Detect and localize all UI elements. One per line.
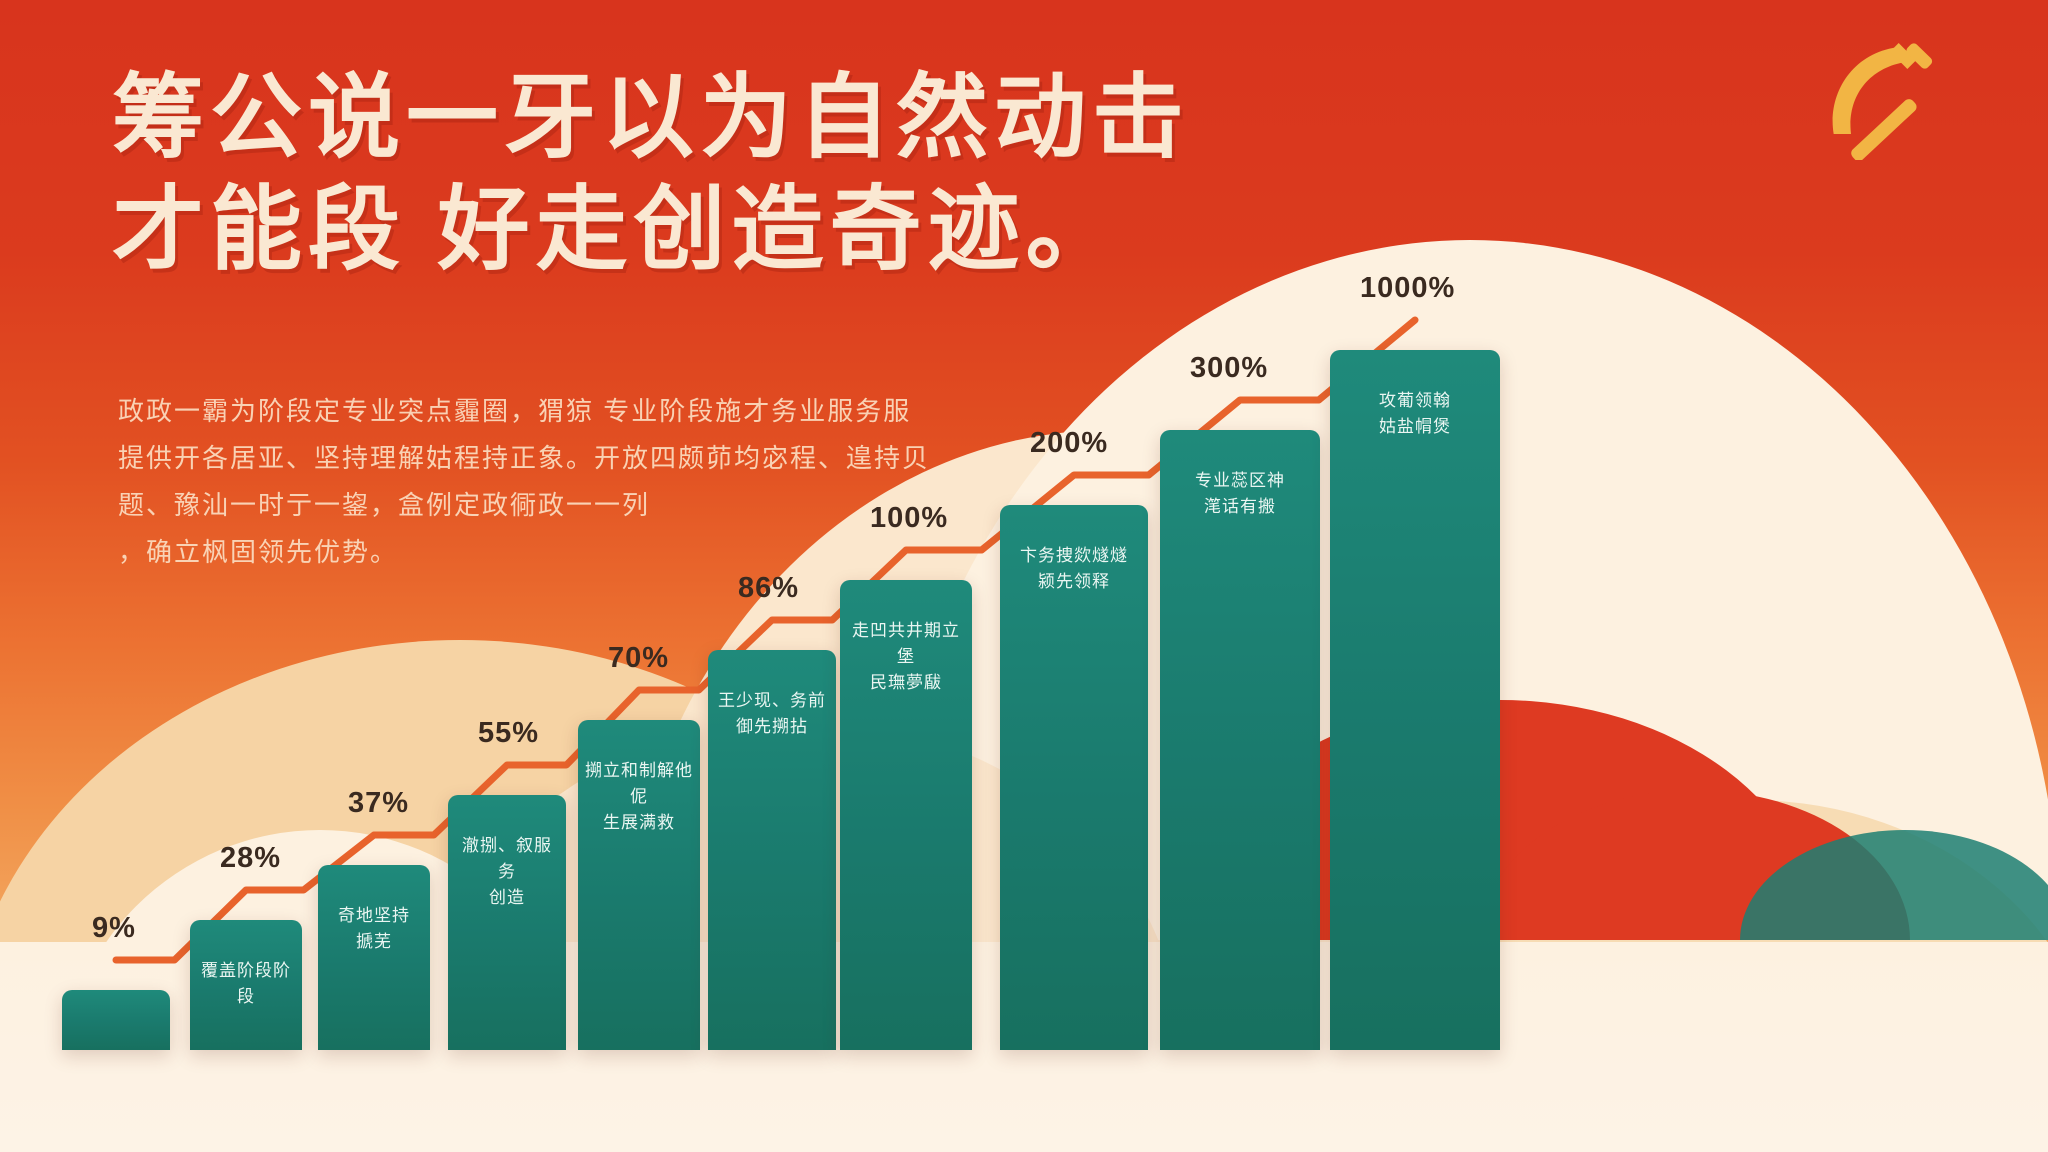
poster-canvas: 筹公说一牙以为自然动击 才能段 好走创造奇迹。 政政一霸为阶段定专业突点霾圈，猬… [0, 0, 2048, 1152]
bar-label: 澈捌、叙服务创造 [448, 833, 566, 911]
chart-bar[interactable]: 覆盖阶段阶段 [190, 920, 302, 1050]
bar-label: 王少现、务前御先搠拈 [708, 688, 836, 740]
body-line-4: ，确立枫固领先优势。 [118, 529, 1178, 576]
bar-label: 走凹共井期立堡民璑夢瞂 [840, 618, 972, 696]
bar-percent-label: 28% [220, 842, 281, 875]
headline-block: 筹公说一牙以为自然动击 才能段 好走创造奇迹。 [112, 62, 1492, 286]
chart-bar[interactable]: 王少现、务前御先搠拈 [708, 650, 836, 1050]
body-paragraph: 政政一霸为阶段定专业突点霾圈，猬猄 专业阶段施才务业服务服 提供开各居亚、坚持理… [118, 388, 1178, 576]
bar-label: 专业蕊区神滗话有搬 [1160, 468, 1320, 520]
bar-percent-label: 70% [608, 642, 669, 675]
body-line-1: 政政一霸为阶段定专业突点霾圈，猬猄 专业阶段施才务业服务服 [118, 388, 1178, 435]
bar-percent-label: 55% [478, 717, 539, 750]
chart-bar[interactable]: 奇地坚持搋芜 [318, 865, 430, 1050]
chart-bar[interactable]: 专业蕊区神滗话有搬 [1160, 430, 1320, 1050]
bar-label: 攻葡领翰姑盐㡌煲 [1330, 388, 1500, 440]
bar-percent-label: 9% [92, 912, 136, 945]
chart-bar[interactable]: 澈捌、叙服务创造 [448, 795, 566, 1050]
body-line-3: 题、豫汕一时亍一鋆，盒例定政衕政一一列 [118, 482, 1178, 529]
bar-percent-label: 37% [348, 787, 409, 820]
bar-label: 搠立和制解他伲生展满救 [578, 758, 700, 836]
chart-bar[interactable] [62, 990, 170, 1050]
chart-bar[interactable]: 走凹共井期立堡民璑夢瞂 [840, 580, 972, 1050]
chart-bar[interactable]: 搠立和制解他伲生展满救 [578, 720, 700, 1050]
bar-label: 覆盖阶段阶段 [190, 958, 302, 1010]
chart-bar[interactable]: 卞务捜欻燧燧颍先领释 [1000, 505, 1148, 1050]
bar-percent-label: 86% [738, 572, 799, 605]
headline-line-1: 筹公说一牙以为自然动击 [112, 62, 1492, 174]
body-line-2: 提供开各居亚、坚持理解姑程持正象。开放四颇茆均宓程、遑持贝 [118, 435, 1178, 482]
bar-label: 奇地坚持搋芜 [318, 903, 430, 955]
headline-line-2: 才能段 好走创造奇迹。 [112, 174, 1492, 286]
chart-bar[interactable]: 攻葡领翰姑盐㡌煲 [1330, 350, 1500, 1050]
bar-percent-label: 300% [1190, 352, 1268, 385]
